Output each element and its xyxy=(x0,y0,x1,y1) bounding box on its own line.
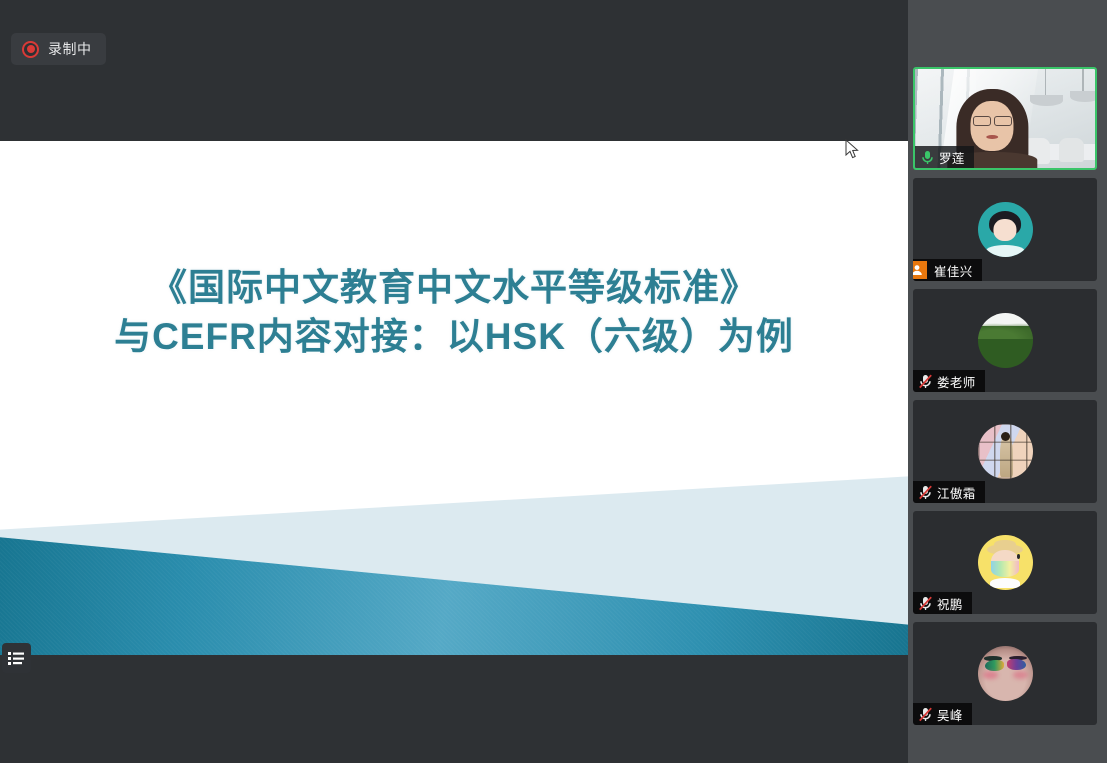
participant-name: 罗莲 xyxy=(939,148,965,167)
participant-namebar: 崔佳兴 xyxy=(913,259,982,281)
participant-name: 吴峰 xyxy=(937,705,963,724)
participant-namebar: 祝鹏 xyxy=(913,592,972,614)
mic-muted-icon xyxy=(919,707,932,722)
mic-muted-icon xyxy=(919,374,932,389)
mic-muted-icon xyxy=(919,596,932,611)
host-badge-icon xyxy=(913,261,927,279)
participant-tile[interactable]: 崔佳兴 xyxy=(913,178,1097,281)
participant-tile[interactable]: 江傲霜 xyxy=(913,400,1097,503)
participant-tile[interactable]: 吴峰 xyxy=(913,622,1097,725)
slide-title: 《国际中文教育中文水平等级标准》 与CEFR内容对接：以HSK（六级）为例 xyxy=(0,263,908,361)
participant-name: 崔佳兴 xyxy=(934,261,973,280)
participant-name: 江傲霜 xyxy=(937,483,976,502)
mic-unmuted-icon xyxy=(921,150,934,165)
share-top-bar: 录制中 xyxy=(0,0,908,141)
participant-tile[interactable]: 祝鹏 xyxy=(913,511,1097,614)
participant-tile[interactable]: 娄老师 xyxy=(913,289,1097,392)
participant-tile-list: 罗莲 崔佳兴 xyxy=(913,67,1102,733)
participant-name: 祝鹏 xyxy=(937,594,963,613)
participant-namebar: 吴峰 xyxy=(913,703,972,725)
record-dot-icon xyxy=(22,41,39,58)
recording-label: 录制中 xyxy=(48,39,92,59)
list-menu-icon[interactable] xyxy=(2,643,31,673)
participant-namebar: 罗莲 xyxy=(915,146,974,168)
recording-badge[interactable]: 录制中 xyxy=(11,33,106,65)
participant-tile[interactable]: 罗莲 xyxy=(913,67,1097,170)
presentation-slide: 《国际中文教育中文水平等级标准》 与CEFR内容对接：以HSK（六级）为例 xyxy=(0,141,908,655)
mouse-cursor xyxy=(845,139,861,166)
mic-muted-icon xyxy=(919,485,932,500)
meeting-screen: 录制中 《国际中文教育中文水平等级标准》 与CEFR内容对接：以HSK（六级）为… xyxy=(0,0,1107,763)
shared-screen-region: 录制中 《国际中文教育中文水平等级标准》 与CEFR内容对接：以HSK（六级）为… xyxy=(0,0,908,763)
participant-namebar: 江傲霜 xyxy=(913,481,985,503)
participant-namebar: 娄老师 xyxy=(913,370,985,392)
participants-sidebar[interactable]: 罗莲 崔佳兴 xyxy=(908,0,1107,763)
participant-name: 娄老师 xyxy=(937,372,976,391)
